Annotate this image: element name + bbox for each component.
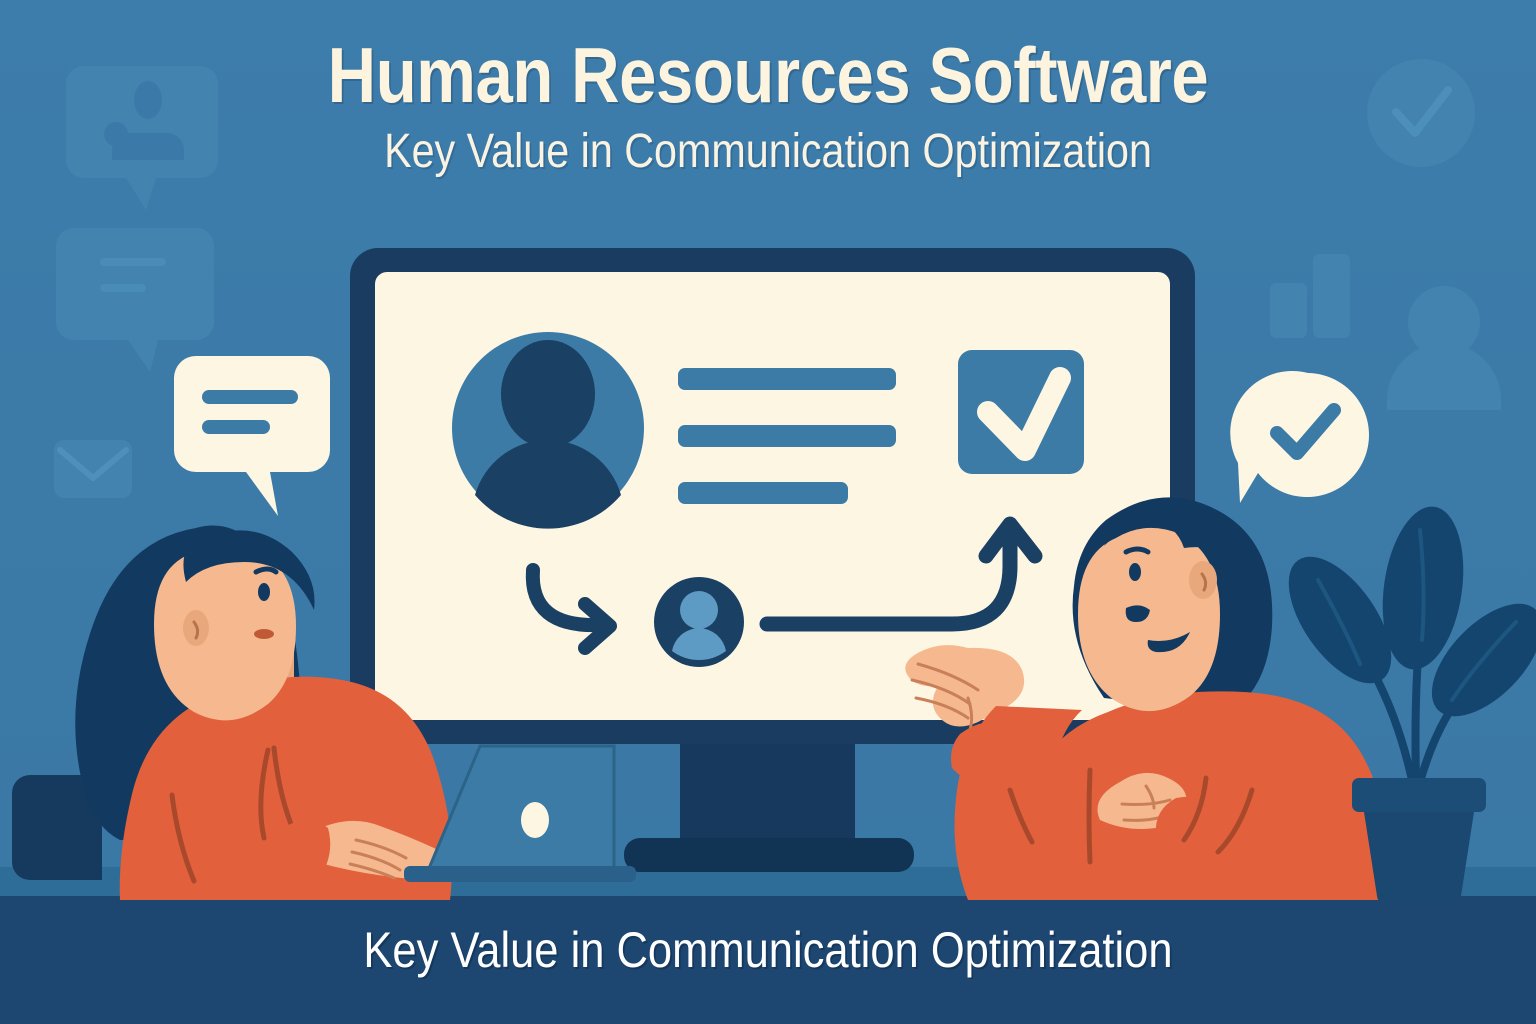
text-line-2 bbox=[678, 425, 896, 447]
user-avatar-large bbox=[452, 332, 644, 529]
laptop-base bbox=[404, 866, 636, 882]
plant-pot-rim bbox=[1352, 778, 1486, 812]
speech-bubble-check-icon bbox=[1230, 371, 1369, 503]
speech-bubble-message-icon bbox=[174, 356, 330, 516]
plant-pot-body bbox=[1364, 812, 1474, 905]
laptop-logo-dot bbox=[521, 802, 549, 838]
text-line-3 bbox=[678, 482, 848, 504]
illustration-canvas: Human Resources Software Key Value in Co… bbox=[0, 0, 1536, 1024]
checkbox-checked bbox=[958, 350, 1084, 474]
plant-leaves bbox=[1269, 501, 1536, 735]
man-eye bbox=[1129, 563, 1141, 581]
text-line-1 bbox=[678, 368, 896, 390]
artwork-layer bbox=[0, 0, 1536, 1024]
user-avatar-small bbox=[654, 577, 744, 667]
woman-eye bbox=[258, 583, 270, 601]
